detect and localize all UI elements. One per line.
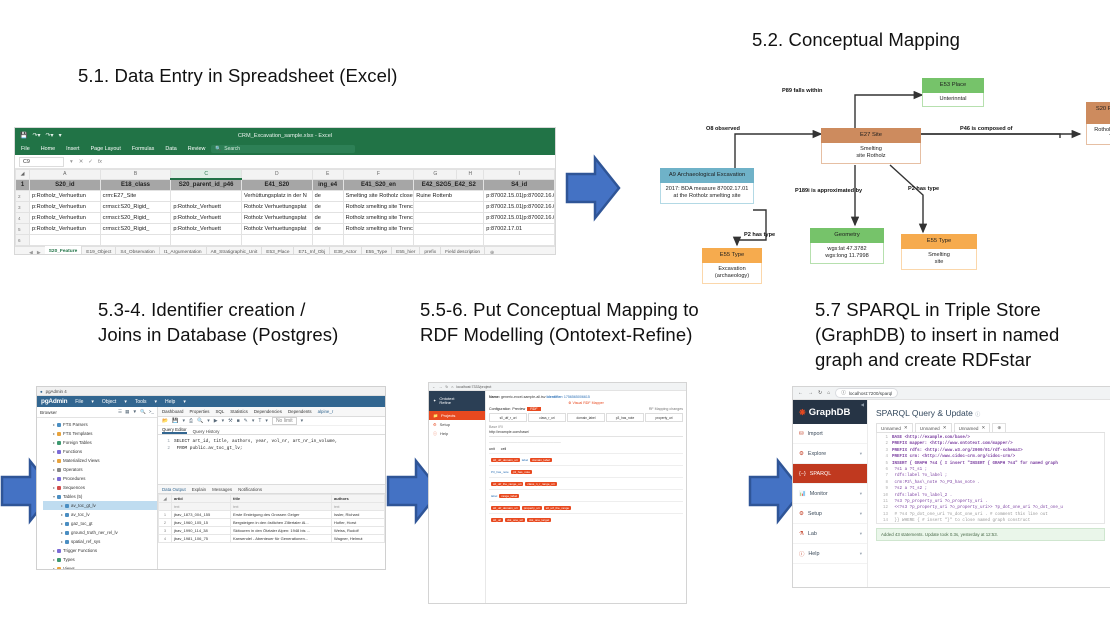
- sheet-tab-e39-actor[interactable]: E39_Actor: [330, 247, 361, 255]
- chevron-right-icon[interactable]: ▸: [53, 566, 55, 570]
- chevron-down-icon[interactable]: ▾: [860, 551, 862, 557]
- sheet-tab-e71-inf-obj[interactable]: E71_Inf_Obj: [294, 247, 330, 255]
- excel-menu-formulas[interactable]: Formulas: [132, 146, 154, 152]
- refine-logo-icon: ✦: [433, 399, 436, 403]
- excel-cell[interactable]: Rotholz smelting site Trench-2: [343, 213, 414, 224]
- list-item[interactable]: label range_label: [489, 489, 683, 501]
- chevron-right-icon[interactable]: ▸: [53, 548, 55, 553]
- graphdb-url-text[interactable]: localhost:7200/sparql: [849, 391, 892, 396]
- excel-header-cell[interactable]: E41_S20_en: [343, 179, 414, 191]
- reload-icon[interactable]: ↻: [445, 385, 448, 389]
- tab-alpine-r[interactable]: alpine_r: [318, 409, 334, 414]
- sheet-nav-next-icon[interactable]: ▶: [37, 250, 45, 255]
- chevron-right-icon[interactable]: ▸: [53, 485, 55, 490]
- object-chip[interactable]: dot_one_target: [527, 518, 551, 522]
- cell-authors[interactable]: Wagner, Helmut: [332, 535, 385, 543]
- home-icon[interactable]: ⌂: [827, 390, 830, 396]
- tree-node-ground-truth-ner-rel-lv[interactable]: ▸ground_truth_ner_rel_lv: [43, 528, 157, 537]
- info-circle-icon[interactable]: ⓘ: [975, 412, 980, 418]
- excel-col-D[interactable]: D: [241, 170, 312, 180]
- tab-notifications[interactable]: Notifications: [238, 487, 262, 492]
- tree-node-label: Procedures: [63, 476, 85, 481]
- tree-node-functions[interactable]: ▸Functions: [43, 447, 157, 456]
- tab-sql[interactable]: SQL: [216, 409, 225, 414]
- tab-preview[interactable]: Preview: [512, 407, 525, 411]
- close-icon[interactable]: ✕: [981, 425, 985, 431]
- sheet-tab-i1-argumentation[interactable]: I1_Argumentation: [160, 247, 207, 255]
- chevron-down-icon[interactable]: ▾: [860, 491, 862, 497]
- node-s20-rigid-physical-feature[interactable]: S20 Rigid Physical Feature Rotholz smelt…: [1086, 102, 1110, 145]
- excel-cell[interactable]: Rotholz smelting site Trench-3: [343, 224, 414, 235]
- chevron-down-icon[interactable]: ▾: [70, 159, 73, 165]
- excel-corner-cell[interactable]: ◢: [16, 170, 30, 180]
- graphdb-url-pill[interactable]: ⓘ localhost:7200/sparql: [835, 388, 898, 398]
- chevron-right-icon[interactable]: ▸: [53, 557, 55, 562]
- tree-node-sequences[interactable]: ▸Sequences: [43, 483, 157, 492]
- excel-header-cell[interactable]: S4_id: [484, 179, 555, 191]
- node-body: Rotholz smelting site Trench-1: [1086, 124, 1110, 145]
- excel-cell[interactable]: p:Rotholz_Verhuett: [171, 213, 242, 224]
- chevron-down-icon[interactable]: ▾: [155, 399, 158, 405]
- code-text: ?s1 a ?t_s1 ;: [892, 468, 927, 472]
- refine-unit-label[interactable]: unit: [489, 447, 495, 451]
- chevron-right-icon[interactable]: ▸: [53, 431, 55, 436]
- chevron-right-icon[interactable]: ▸: [61, 539, 63, 544]
- predicate-chip[interactable]: P3_has_note: [491, 470, 509, 474]
- predicate-chip[interactable]: property_uri: [522, 506, 542, 510]
- chevron-down-icon[interactable]: ▾: [265, 418, 268, 424]
- excel-cell[interactable]: Smelting site Rotholz close to: [343, 191, 414, 202]
- excel-row-number[interactable]: 6: [16, 235, 30, 246]
- chevron-right-icon[interactable]: ▸: [53, 422, 55, 427]
- excel-cell[interactable]: Rotholz Verhuettungsplat: [241, 202, 312, 213]
- object-chip[interactable]: domain_label: [530, 458, 552, 462]
- pgadmin-object-tree[interactable]: ▸FTS Parsers ▸FTS Templates ▸Foreign Tab…: [37, 418, 157, 570]
- node-e53-place[interactable]: E53 Place Unterinntal: [922, 78, 984, 107]
- fx-icon[interactable]: fx: [98, 159, 102, 165]
- query-tab[interactable]: Unnamed✕: [876, 423, 913, 432]
- tab-explain[interactable]: Explain: [192, 487, 206, 492]
- tab-query-history[interactable]: Query History: [193, 429, 220, 434]
- predicate-chip[interactable]: label: [522, 458, 528, 462]
- excel-cell[interactable]: p:Rotholz_Verhuettun: [30, 191, 101, 202]
- refine-column[interactable]: s0_utf_r_uri: [489, 413, 527, 422]
- object-chip[interactable]: class_n_r_range_uri: [525, 482, 556, 486]
- chevron-down-icon[interactable]: ▾: [860, 451, 862, 457]
- excel-header-cell[interactable]: E42_S2G5_E42_S2: [414, 179, 484, 191]
- excel-formula-bar[interactable]: C9 ▾ ✕ ✓ fx: [15, 155, 555, 169]
- node-geometry[interactable]: Geometry wgs:lat 47.3782 wgs:long 11.799…: [810, 228, 884, 264]
- excel-cell[interactable]: p:87002.15.01|p:87002.16.01|: [484, 191, 555, 202]
- tree-node-trigger-functions[interactable]: ▸Trigger Functions: [43, 546, 157, 555]
- tree-node-operators[interactable]: ▸Operators: [43, 465, 157, 474]
- edit-icon[interactable]: ✎: [244, 418, 248, 424]
- excel-cell[interactable]: p:Rotholz_Verhuettun: [30, 224, 101, 235]
- list-item[interactable]: P3_has_note p3_has_note: [489, 465, 683, 477]
- sheet-tab-field-description[interactable]: Field description: [441, 247, 485, 255]
- tree-node-tables[interactable]: ▾Tables (5): [43, 492, 157, 501]
- object-chip[interactable]: s0_utf_the_range: [544, 506, 571, 510]
- table-row[interactable]: 3 jbav_1990_114_38 Skitouren in den Ötzt…: [159, 527, 385, 535]
- node-body: 2017: BDA measure 87002.17.01 at the Rot…: [660, 183, 754, 204]
- excel-cell[interactable]: [414, 235, 484, 246]
- tab-dependencies[interactable]: Dependencies: [254, 409, 282, 414]
- result-header-row: ◢ artid title authors: [159, 495, 385, 503]
- excel-menu-page-layout[interactable]: Page Layout: [91, 146, 121, 152]
- table-row[interactable]: 1 jbav_1873_004_155 Erste Ersteigung des…: [159, 511, 385, 519]
- chevron-right-icon[interactable]: ▸: [61, 503, 63, 508]
- excel-cell[interactable]: [171, 235, 242, 246]
- tab-messages[interactable]: Messages: [212, 487, 232, 492]
- chevron-down-icon[interactable]: ▾: [91, 399, 94, 405]
- excel-cell[interactable]: p:87002.15.01|p:87002.16.01: [484, 213, 555, 224]
- back-icon[interactable]: ←: [432, 385, 436, 389]
- excel-row-number[interactable]: 1: [16, 179, 30, 191]
- subject-chip[interactable]: s0_uri: [491, 518, 503, 522]
- col-header-authors[interactable]: authors: [332, 495, 385, 503]
- excel-col-G[interactable]: G: [414, 170, 457, 180]
- cell-title[interactable]: Karwendel - Abenteuer für Generationen..…: [231, 535, 332, 543]
- search-icon[interactable]: 🔍: [140, 409, 146, 415]
- graphdb-nav-lab[interactable]: ⚗Lab▾: [793, 524, 867, 544]
- tree-node-fts-templates[interactable]: ▸FTS Templates: [43, 429, 157, 438]
- graphdb-nav-setup[interactable]: ⚙Setup▾: [793, 504, 867, 524]
- pgadmin-result-grid[interactable]: ◢ artid title authors text text text 1: [158, 494, 385, 543]
- excel-col-B[interactable]: B: [100, 170, 171, 180]
- excel-cell[interactable]: p:Rotholz_Verhuett: [171, 202, 242, 213]
- refine-mapping-note: RF Mapping changes: [649, 407, 683, 411]
- excel-cell[interactable]: [414, 202, 484, 213]
- refine-column[interactable]: property_uri: [645, 413, 683, 422]
- query-tab[interactable]: Unnamed✕: [915, 423, 952, 432]
- sheet-nav-prev-icon[interactable]: ◀: [29, 250, 37, 255]
- chevron-down-icon[interactable]: ▾: [183, 399, 186, 405]
- pgadmin-menu-object[interactable]: Object: [102, 399, 116, 405]
- tab-properties[interactable]: Properties: [189, 409, 209, 414]
- chevron-right-icon[interactable]: ▸: [53, 458, 55, 463]
- stop-icon[interactable]: ■: [237, 418, 240, 424]
- excel-cell[interactable]: de: [312, 191, 343, 202]
- excel-col-I[interactable]: I: [484, 170, 555, 180]
- tree-node-procedures[interactable]: ▸Procedures: [43, 474, 157, 483]
- pgadmin-output-tabs[interactable]: Data Output Explain Messages Notificatio…: [158, 484, 385, 494]
- cell-title[interactable]: Bergsteigen in den östlichen Zillertaler…: [231, 519, 332, 527]
- excel-menu-data[interactable]: Data: [165, 146, 176, 152]
- chevron-down-icon[interactable]: ▾: [860, 531, 862, 537]
- refine-browser-bar[interactable]: ← → ↻ ⌂ localhost:7333/project: [429, 383, 686, 391]
- table-row[interactable]: 6: [16, 235, 555, 246]
- excel-header-cell[interactable]: S20_id: [30, 179, 101, 191]
- pgadmin-main-tabs[interactable]: Dashboard Properties SQL Statistics Depe…: [158, 407, 385, 417]
- excel-name-box[interactable]: C9: [19, 157, 64, 167]
- col-header-title[interactable]: title: [231, 495, 332, 503]
- excel-menu-review[interactable]: Review: [188, 146, 206, 152]
- excel-cell[interactable]: de: [312, 202, 343, 213]
- sheet-tab-prefix[interactable]: prefix: [420, 247, 441, 255]
- terminal-icon[interactable]: >_: [149, 409, 154, 415]
- pgadmin-menu-file[interactable]: File: [75, 399, 83, 405]
- chevron-right-icon[interactable]: ▸: [53, 476, 55, 481]
- chevron-down-icon[interactable]: ▾: [182, 418, 185, 424]
- cell-artid[interactable]: jbav_1990_114_38: [172, 527, 231, 535]
- sheet-tab-e53-place[interactable]: E53_Place: [262, 247, 294, 255]
- excel-col-F[interactable]: F: [343, 170, 414, 180]
- cell-artid[interactable]: jbav_1981_106_75: [172, 535, 231, 543]
- excel-grid[interactable]: ◢ A B C D E F G H I 1 S20_id E18_class S…: [15, 169, 555, 246]
- tab-query-editor[interactable]: Query Editor: [162, 427, 187, 434]
- pgadmin-menu-bar[interactable]: pgAdmin File ▾ Object ▾ Tools ▾ Help ▾: [37, 396, 385, 407]
- refine-column-bar[interactable]: s0_utf_r_uri class_r_uri domain_label p3…: [489, 413, 683, 422]
- pgadmin-menu-help[interactable]: Help: [165, 399, 175, 405]
- refine-url-text[interactable]: localhost:7333/project: [456, 385, 491, 389]
- excel-header-cell[interactable]: ing_e4: [312, 179, 343, 191]
- refine-column[interactable]: domain_label: [567, 413, 605, 422]
- excel-cell[interactable]: Rotholz Verhuettungsplat: [241, 224, 312, 235]
- refine-nav-setup[interactable]: ⚙Setup: [429, 420, 485, 429]
- excel-header-cell[interactable]: E41_S20: [241, 179, 312, 191]
- cell-authors[interactable]: Hofler, Horst: [332, 519, 385, 527]
- excel-cell[interactable]: Ruine Rottenb: [414, 191, 484, 202]
- table-row[interactable]: 4 jbav_1981_106_75 Karwendel - Abenteuer…: [159, 535, 385, 543]
- confirm-icon[interactable]: ✓: [88, 159, 93, 165]
- excel-cell[interactable]: p:87002.15.01|p:87002.16.01: [484, 202, 555, 213]
- chevron-down-icon[interactable]: ▾: [301, 418, 304, 424]
- cell-authors[interactable]: Issler, Richard: [332, 511, 385, 519]
- sheet-tab-e55-hier[interactable]: E55_hier: [392, 247, 420, 255]
- chevron-right-icon[interactable]: ▸: [61, 530, 63, 535]
- excel-cell[interactable]: p:Rotholz_Verhuettun: [30, 202, 101, 213]
- excel-menu-insert[interactable]: Insert: [66, 146, 79, 152]
- refine-base-value[interactable]: http://example.com/base/: [489, 430, 683, 437]
- excel-cell[interactable]: p:87002.17.01: [484, 224, 555, 235]
- save-icon[interactable]: 💾: [172, 418, 178, 424]
- refine-nav-help[interactable]: ⓘHelp: [429, 429, 485, 438]
- tab-dashboard[interactable]: Dashboard: [162, 409, 183, 414]
- node-e27-site[interactable]: E27 Site Smelting site Rotholz: [821, 128, 921, 164]
- chevron-left-icon[interactable]: ◀: [861, 402, 864, 407]
- excel-cell[interactable]: Rotholz smelting site Trench-1: [343, 202, 414, 213]
- explain-icon[interactable]: ⚒: [228, 418, 232, 424]
- forward-icon[interactable]: →: [439, 385, 443, 389]
- chevron-right-icon[interactable]: ▸: [61, 521, 63, 526]
- refine-tab-bar[interactable]: Configuration Preview RDF RF Mapping cha…: [489, 407, 683, 411]
- list-item[interactable]: s0_utf_the_range_uri class_n_r_range_uri: [489, 477, 683, 489]
- tree-node-spatial-ref-sys[interactable]: ▸spatial_ref_sys: [43, 537, 157, 546]
- query-tab[interactable]: Unnamed✕: [954, 423, 991, 432]
- excel-cell[interactable]: [241, 235, 312, 246]
- sheet-tab-e19-object[interactable]: E19_Object: [82, 247, 116, 255]
- code-text: rdfs:label ?o_label_2 .: [892, 494, 952, 498]
- pgadmin-menu-tools[interactable]: Tools: [135, 399, 147, 405]
- sql-line: 1SELECT art_id, title, authors, year, vo…: [162, 438, 385, 445]
- tree-node-foreign-tables[interactable]: ▸Foreign Tables: [43, 438, 157, 447]
- excel-cell[interactable]: Verhüttungsplatz in der N: [241, 191, 312, 202]
- sheet-tab-a8-stratigraphic-unit[interactable]: A8_Stratigraphic_Unit: [207, 247, 263, 255]
- pgadmin-editor-tabs[interactable]: Query Editor Query History: [158, 426, 385, 435]
- graphdb-nav-import[interactable]: ⛁Import: [793, 424, 867, 444]
- filter-icon[interactable]: ▼: [132, 409, 137, 415]
- refine-cell-label[interactable]: cell: [501, 447, 506, 451]
- subject-chip[interactable]: s0_utf_domain_uri: [491, 506, 520, 510]
- excel-col-A[interactable]: A: [30, 170, 101, 180]
- refine-nav-projects[interactable]: 📁Projects: [429, 411, 485, 420]
- copy-icon[interactable]: ⎙: [189, 418, 193, 424]
- graphdb-nav-monitor[interactable]: 📊Monitor▾: [793, 484, 867, 504]
- excel-cell[interactable]: p:Rotholz_Verhuett: [171, 224, 242, 235]
- predicate-chip[interactable]: dot_one_uri: [505, 518, 525, 522]
- open-file-icon[interactable]: 📂: [162, 418, 168, 424]
- forward-icon[interactable]: →: [808, 390, 813, 396]
- find-icon[interactable]: 🔍: [197, 418, 203, 424]
- home-icon[interactable]: ⌂: [451, 385, 453, 389]
- sheet-tab-e55-type[interactable]: E55_Type: [362, 247, 393, 255]
- excel-cell[interactable]: [100, 235, 171, 246]
- add-query-tab-button[interactable]: ⊕: [992, 423, 1006, 432]
- graphdb-nav-explore[interactable]: ⚙Explore▾: [793, 444, 867, 464]
- tab-data-output[interactable]: Data Output: [162, 487, 186, 492]
- excel-row-number[interactable]: 4: [16, 213, 30, 224]
- tree-node-fts-parsers[interactable]: ▸FTS Parsers: [43, 420, 157, 429]
- excel-cell[interactable]: Rotholz Verhuettungsplat: [241, 213, 312, 224]
- tree-node-types[interactable]: ▸Types: [43, 555, 157, 564]
- excel-cell[interactable]: de: [312, 224, 343, 235]
- grid-icon[interactable]: ▦: [125, 409, 129, 415]
- tree-node-label: spatial_ref_sys: [71, 539, 100, 544]
- sheet-tab-s20-feature[interactable]: S20_Feature: [45, 246, 83, 255]
- excel-header-cell[interactable]: S20_parent_id_p46: [171, 179, 242, 191]
- plus-circle-icon[interactable]: ⊕: [485, 251, 499, 256]
- execute-icon[interactable]: ▶: [214, 418, 218, 424]
- excel-col-H[interactable]: H: [457, 170, 484, 180]
- subject-chip[interactable]: s0_utf_domain_uri: [491, 458, 520, 462]
- tree-node-gaz-toc-gt[interactable]: ▸gaz_toc_gt: [43, 519, 157, 528]
- node-icon: [57, 432, 61, 436]
- node-a9-archaeological-excavation[interactable]: A9 Archaeological Excavation 2017: BDA m…: [660, 168, 754, 204]
- list-icon[interactable]: ☰: [118, 409, 122, 415]
- excel-cell[interactable]: [343, 235, 414, 246]
- chevron-right-icon[interactable]: ▸: [61, 512, 63, 517]
- chevron-right-icon[interactable]: ▸: [53, 440, 55, 445]
- graphdb-query-tabs[interactable]: Unnamed✕ Unnamed✕ Unnamed✕ ⊕: [876, 423, 1105, 433]
- tree-node-label: Functions: [63, 449, 82, 454]
- filter-icon[interactable]: T: [258, 418, 261, 424]
- refine-column[interactable]: class_r_uri: [528, 413, 566, 422]
- object-chip[interactable]: p3_has_note: [511, 470, 532, 474]
- cell-title[interactable]: Erste Ersteigung des Grossen Geiger: [231, 511, 332, 519]
- list-item[interactable]: s0_utf_domain_uri label domain_label: [489, 453, 683, 465]
- node-e55-type-excavation[interactable]: E55 Type Excavation (archaeology): [702, 248, 762, 284]
- excel-cell[interactable]: [414, 224, 484, 235]
- tab-dependents[interactable]: Dependents: [288, 409, 312, 414]
- close-icon[interactable]: ✕: [943, 425, 947, 431]
- tree-node-av-toc-lv[interactable]: ▸av_toc_lv: [43, 510, 157, 519]
- excel-sheet-tab-bar[interactable]: ◀ ▶ S20_Feature E19_Object S4_Observatio…: [15, 246, 555, 255]
- chevron-right-icon[interactable]: ▸: [53, 449, 55, 454]
- tab-configuration[interactable]: Configuration: [489, 407, 510, 411]
- excel-cell[interactable]: [171, 191, 242, 202]
- cell-artid[interactable]: jbav_1960_105_15: [172, 519, 231, 527]
- excel-cell[interactable]: de: [312, 213, 343, 224]
- tree-node-av-toc-gt-lv[interactable]: ▸av_toc_gt_lv: [43, 501, 157, 510]
- graphdb-nav-help[interactable]: ⓘHelp▾: [793, 544, 867, 564]
- table-row[interactable]: 4 p:Rotholz_Verhuettun crmsci:S20_Rigid_…: [16, 213, 555, 224]
- cell-authors[interactable]: Weiss, Rudolf: [332, 527, 385, 535]
- excel-row-number[interactable]: 3: [16, 202, 30, 213]
- excel-cell[interactable]: crm:E27_Site: [100, 191, 171, 202]
- excel-header-cell[interactable]: E18_class: [100, 179, 171, 191]
- chevron-down-icon[interactable]: ▾: [222, 418, 225, 424]
- back-icon[interactable]: ←: [798, 390, 803, 396]
- table-row[interactable]: 2 p:Rotholz_Verhuettun crm:E27_Site Verh…: [16, 191, 555, 202]
- graphdb-browser-bar[interactable]: ← → ↻ ⌂ ⓘ localhost:7200/sparql: [793, 387, 1110, 400]
- excel-cell[interactable]: crmsci:S20_Rigid_: [100, 202, 171, 213]
- graphdb-nav-sparql[interactable]: {−}SPARQL: [793, 464, 867, 484]
- tree-node-views[interactable]: ▸Views: [43, 564, 157, 570]
- excel-cell[interactable]: p:Rotholz_Verhuettun: [30, 213, 101, 224]
- excel-col-E[interactable]: E: [312, 170, 343, 180]
- excel-cell[interactable]: [484, 235, 555, 246]
- chevron-down-icon[interactable]: ▾: [207, 418, 210, 424]
- excel-menu-file[interactable]: File: [21, 146, 30, 152]
- table-row[interactable]: 5 p:Rotholz_Verhuettun crmsci:S20_Rigid_…: [16, 224, 555, 235]
- object-chip[interactable]: range_label: [499, 494, 519, 498]
- excel-cell[interactable]: [30, 235, 101, 246]
- predicate-chip[interactable]: label: [491, 494, 497, 498]
- refine-column[interactable]: p3_has_note: [606, 413, 644, 422]
- pgadmin-query-toolbar[interactable]: 📂 💾 ▾ ⎙ 🔍 ▾ ▶ ▾ ⚒ ■ ✎ ▾ T ▾ No limit ▾: [158, 417, 385, 426]
- reload-icon[interactable]: ↻: [818, 390, 822, 396]
- chevron-down-icon[interactable]: ▾: [53, 494, 55, 499]
- list-item[interactable]: s0_uri dot_one_uri dot_one_target: [489, 513, 683, 525]
- excel-menu-home[interactable]: Home: [41, 146, 55, 152]
- chevron-right-icon[interactable]: ▸: [53, 467, 55, 472]
- tab-rdf[interactable]: RDF: [527, 407, 540, 411]
- col-header-artid[interactable]: artid: [172, 495, 231, 503]
- excel-search-box[interactable]: 🔍 Search: [211, 145, 355, 153]
- row-limit-select[interactable]: No limit: [272, 417, 297, 425]
- table-row[interactable]: 3 p:Rotholz_Verhuettun crmsci:S20_Rigid_…: [16, 202, 555, 213]
- excel-cell[interactable]: crmsci:S20_Rigid_: [100, 213, 171, 224]
- chevron-down-icon[interactable]: ▾: [252, 418, 255, 424]
- chevron-down-icon[interactable]: ▾: [860, 511, 862, 517]
- excel-row-number[interactable]: 5: [16, 224, 30, 235]
- excel-cell[interactable]: [312, 235, 343, 246]
- sparql-editor[interactable]: 1BASE <http://example.com/base/> 2PREFIX…: [876, 433, 1105, 524]
- table-row[interactable]: 2 jbav_1960_105_15 Bergsteigen in den ös…: [159, 519, 385, 527]
- subject-chip[interactable]: s0_utf_the_range_uri: [491, 482, 523, 486]
- cell-title[interactable]: Skitouren in den Ötztaler Alpen: 1948 bi…: [231, 527, 332, 535]
- pgadmin-sql-editor[interactable]: 1SELECT art_id, title, authors, year, vo…: [158, 435, 385, 484]
- node-e55-type-smelting-site[interactable]: E55 Type Smelting site: [901, 234, 977, 270]
- tree-node-label: Types: [63, 557, 75, 562]
- tree-node-materialized-views[interactable]: ▸Materialized Views: [43, 456, 157, 465]
- cell-artid[interactable]: jbav_1873_004_155: [172, 511, 231, 519]
- refine-main-panel: Name: generic-excel-sample-all.tsv Ident…: [486, 391, 686, 603]
- excel-cell[interactable]: [414, 213, 484, 224]
- list-item[interactable]: s0_utf_domain_uri property_uri s0_utf_th…: [489, 501, 683, 513]
- edge-label-p189i-is-approximated-by: P189i is approximated by: [795, 188, 862, 194]
- chevron-down-icon[interactable]: ▾: [124, 399, 127, 405]
- visual-rdf-mapper-link[interactable]: ⚙ Visual RDF Mapper: [489, 401, 683, 405]
- sheet-tab-s4-observation[interactable]: S4_Observation: [116, 247, 159, 255]
- excel-col-C[interactable]: C: [171, 170, 242, 180]
- close-icon[interactable]: ✕: [904, 425, 908, 431]
- excel-row-number[interactable]: 2: [16, 191, 30, 202]
- tab-statistics[interactable]: Statistics: [230, 409, 248, 414]
- excel-cell[interactable]: crmsci:S20_Rigid_: [100, 224, 171, 235]
- section-title-5-1: 5.1. Data Entry in Spreadsheet (Excel): [78, 64, 397, 89]
- cancel-icon[interactable]: ✕: [79, 159, 84, 165]
